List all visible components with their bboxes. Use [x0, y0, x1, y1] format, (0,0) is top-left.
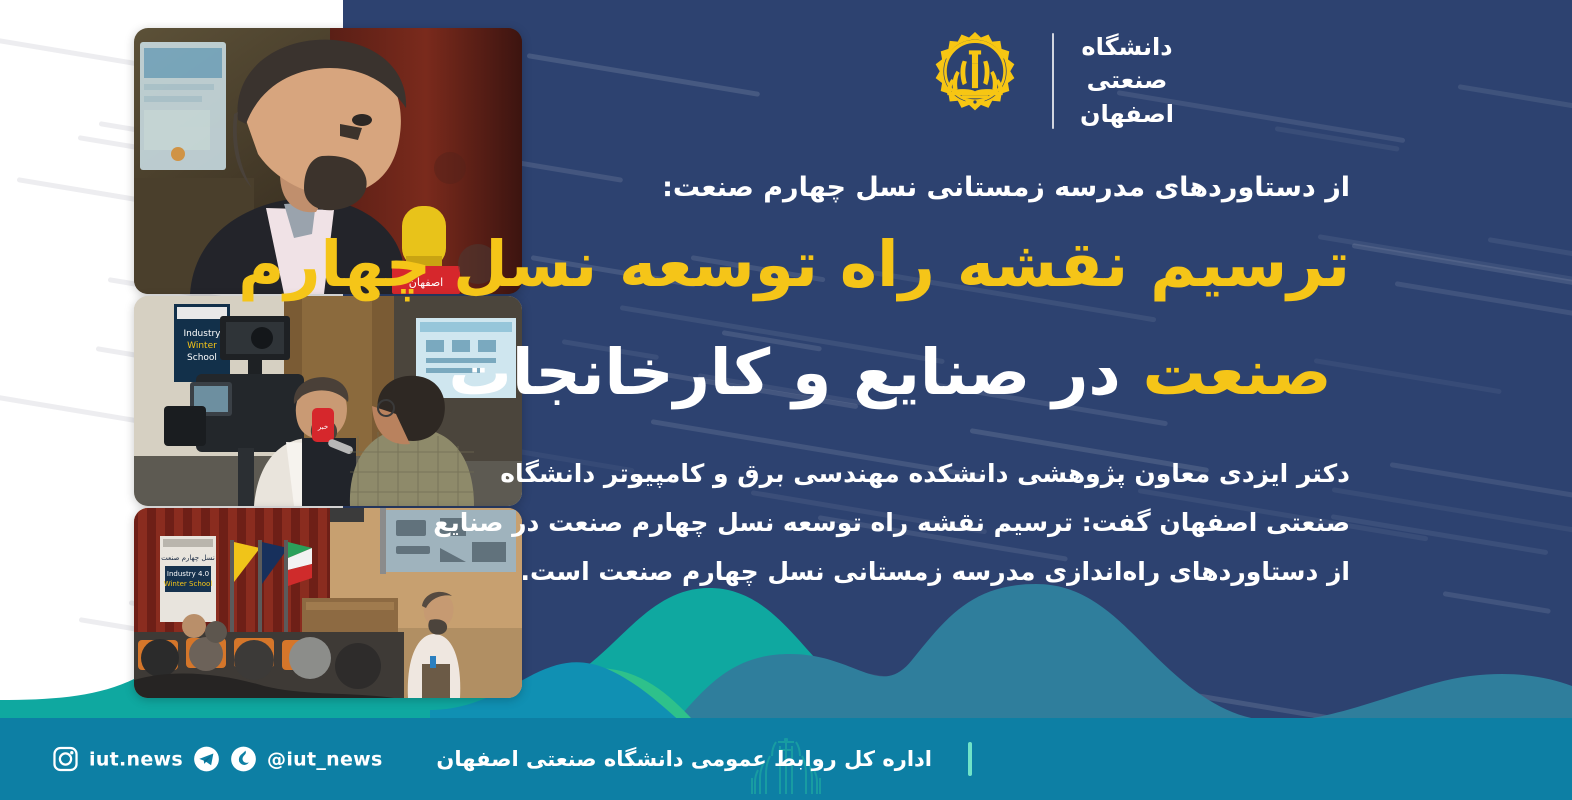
footer-bar: اداره کل روابط عمومی دانشگاه صنعتی اصفها… — [0, 718, 1572, 800]
diagonal-dash — [1395, 281, 1572, 340]
svg-text:Industry 4.0: Industry 4.0 — [167, 570, 209, 578]
svg-text:Winter: Winter — [187, 341, 217, 351]
diagonal-dash — [526, 53, 760, 97]
headline-highlight-word: صنعت — [1143, 336, 1332, 409]
brand-divider — [1052, 33, 1054, 129]
svg-text:نسل چهارم صنعت: نسل چهارم صنعت — [161, 554, 215, 562]
university-name: دانشگاه صنعتی اصفهان — [1054, 31, 1174, 130]
svg-text:خبر: خبر — [317, 423, 328, 431]
svg-text:School: School — [187, 353, 217, 363]
footer-divider — [968, 742, 972, 776]
telegram-icon[interactable] — [193, 746, 220, 773]
iut-emblem-logo — [924, 30, 1026, 132]
headline-line-1: ترسیم نقشه راه توسعه نسل چهارم — [430, 228, 1350, 302]
headline-line-2-rest: در صنایع و کارخانجات — [449, 336, 1143, 409]
kicker-text: از دستاوردهای مدرسه زمستانی نسل چهارم صن… — [430, 172, 1350, 203]
public-relations-label: اداره کل روابط عمومی دانشگاه صنعتی اصفها… — [436, 747, 932, 771]
body-paragraph: دکتر ایزدی معاون پژوهشی دانشکده مهندسی ب… — [430, 450, 1350, 596]
diagonal-dash — [1457, 84, 1572, 139]
bale-handle[interactable]: @iut_news — [267, 748, 383, 770]
instagram-icon[interactable] — [52, 746, 79, 773]
university-name-line-3: اصفهان — [1080, 98, 1174, 131]
diagonal-dash — [1389, 462, 1572, 503]
bale-icon[interactable] — [230, 746, 257, 773]
social-links: iut.news @iut_news — [52, 746, 383, 773]
instagram-handle[interactable]: iut.news — [89, 748, 183, 770]
university-name-line-1: دانشگاه — [1080, 31, 1174, 64]
svg-text:Industry: Industry — [183, 329, 221, 339]
headline-line-2: صنعت در صنایع و کارخانجات — [430, 336, 1350, 410]
university-name-line-2: صنعتی — [1080, 64, 1174, 97]
svg-text:Winter School: Winter School — [164, 580, 213, 588]
brand-header: دانشگاه صنعتی اصفهان — [924, 30, 1174, 132]
poster-canvas: اصفهان Industry Winter Sch — [0, 0, 1572, 800]
